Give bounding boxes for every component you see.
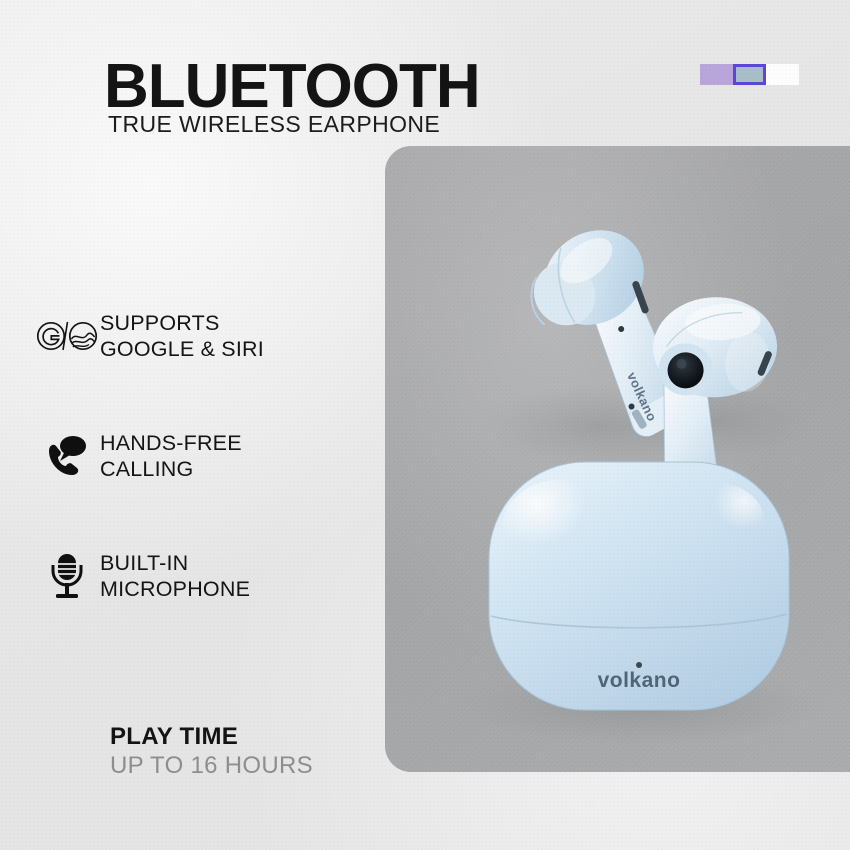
product-poster: volkano <box>0 0 850 850</box>
feature-line-1: SUPPORTS <box>100 310 264 336</box>
microphone-icon <box>34 552 100 600</box>
feature-hands-free-calling: HANDS-FREE CALLING <box>34 430 242 482</box>
feature-line-2: GOOGLE & SIRI <box>100 336 264 362</box>
feature-text: SUPPORTS GOOGLE & SIRI <box>100 310 264 362</box>
colour-swatch-group[interactable] <box>700 64 799 85</box>
page-title: BLUETOOTH <box>104 56 480 118</box>
product-backdrop-panel: volkano <box>385 146 850 772</box>
product-photo: volkano <box>385 146 850 772</box>
page-subtitle: TRUE WIRELESS EARPHONE <box>108 113 440 136</box>
feature-line-2: MICROPHONE <box>100 576 250 602</box>
play-time-block: PLAY TIME UP TO 16 HOURS <box>110 723 313 781</box>
case-brand-text: volkano <box>598 669 681 692</box>
feature-line-2: CALLING <box>100 456 242 482</box>
feature-supports-google-siri: SUPPORTS GOOGLE & SIRI <box>34 310 264 362</box>
charging-case: volkano <box>455 462 825 746</box>
phone-speech-bubble-icon <box>34 435 100 477</box>
swatch-purple[interactable] <box>700 64 733 85</box>
feature-line-1: BUILT-IN <box>100 550 250 576</box>
play-time-label: PLAY TIME <box>110 723 313 751</box>
swatch-light-blue[interactable] <box>733 64 766 85</box>
feature-text: HANDS-FREE CALLING <box>100 430 242 482</box>
feature-built-in-microphone: BUILT-IN MICROPHONE <box>34 550 250 602</box>
play-time-value: UP TO 16 HOURS <box>110 751 313 781</box>
swatch-white[interactable] <box>766 64 799 85</box>
feature-line-1: HANDS-FREE <box>100 430 242 456</box>
case-led-indicator <box>636 662 642 668</box>
google-siri-icon <box>34 319 100 353</box>
feature-text: BUILT-IN MICROPHONE <box>100 550 250 602</box>
